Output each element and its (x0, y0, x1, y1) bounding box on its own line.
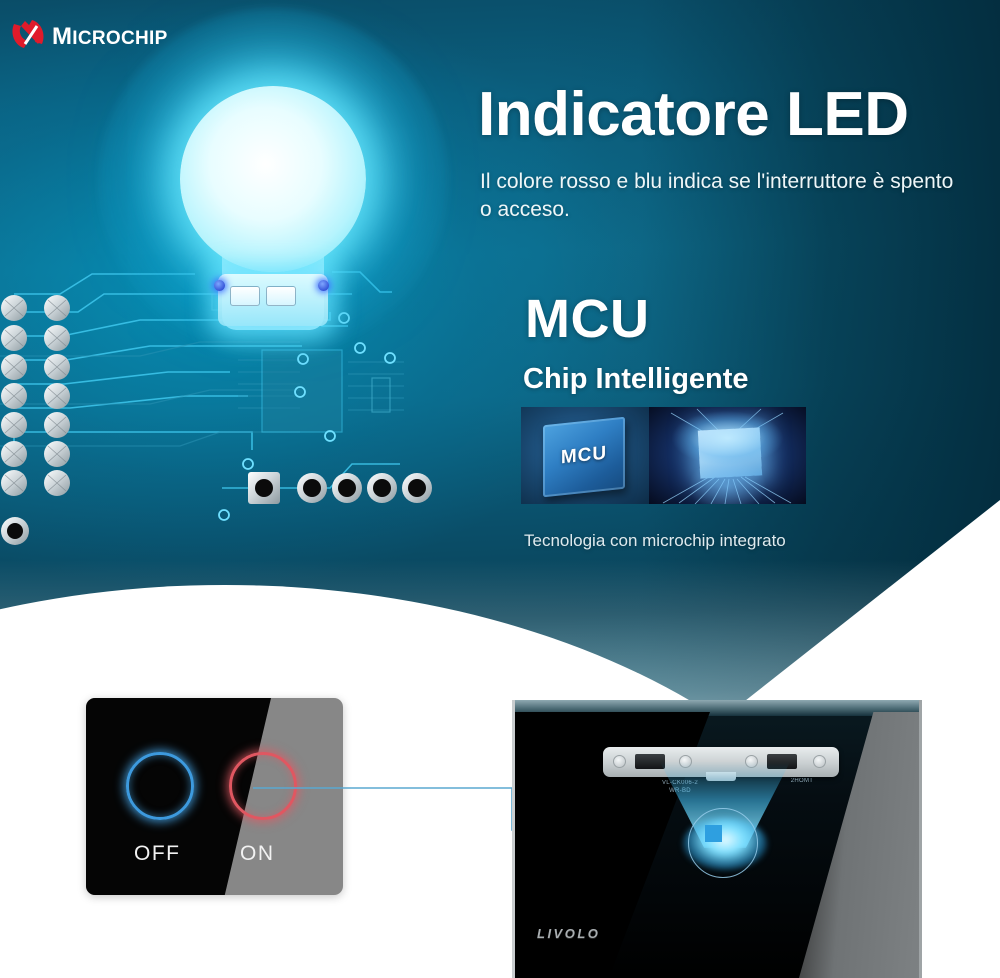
mcu-subtitle: Chip Intelligente (523, 365, 749, 394)
mcu-image-pair: MCU (521, 407, 806, 504)
logo-text-rest: ICROCHIP (72, 28, 167, 49)
livolo-switch-photo: VL-CK006-2 WR-BD 2HOMT LIVOLO (512, 700, 922, 978)
microchip-logo: MICROCHIP (8, 14, 208, 56)
on-label: ON (240, 842, 275, 866)
off-label: OFF (134, 842, 181, 866)
logo-text-first: M (52, 23, 72, 50)
microchip-logo-text: MICROCHIP (52, 23, 168, 51)
led-target-circle (688, 808, 758, 878)
microchip-logo-icon (8, 14, 48, 54)
mcu-circuit-photo (649, 407, 806, 504)
terminal-screw-1 (635, 754, 665, 769)
off-on-switch-panel[interactable]: OFF ON (86, 698, 343, 895)
terminal-hole-4 (813, 755, 826, 768)
led-dot-left-icon (214, 280, 225, 291)
led-chip-right (266, 286, 296, 306)
page-root: Indicatore LED Il colore rosso e blu ind… (0, 0, 1000, 978)
microchip-mark-svg (8, 14, 48, 54)
led-chip-left (230, 286, 260, 306)
page-subtitle: Il colore rosso e blu indica se l'interr… (480, 168, 970, 225)
mcu-caption: Tecnologia con microchip integrato (524, 531, 786, 551)
mcu-chip-glow (649, 407, 806, 504)
led-dot-right-icon (318, 280, 329, 291)
led-indicator-square (705, 825, 722, 842)
livolo-brand-mark: LIVOLO (537, 926, 600, 941)
bulb-globe (180, 86, 366, 272)
page-title: Indicatore LED (478, 84, 909, 146)
on-indicator-ring-icon[interactable] (229, 752, 297, 820)
terminal-hole-1 (613, 755, 626, 768)
off-indicator-ring-icon[interactable] (126, 752, 194, 820)
mcu-title: MCU (525, 292, 649, 346)
mcu-chip-photo: MCU (521, 407, 649, 504)
switch-left-face (86, 698, 343, 895)
led-bulb-graphic (168, 78, 378, 348)
hero-section: Indicatore LED Il colore rosso e blu ind… (0, 0, 1000, 760)
